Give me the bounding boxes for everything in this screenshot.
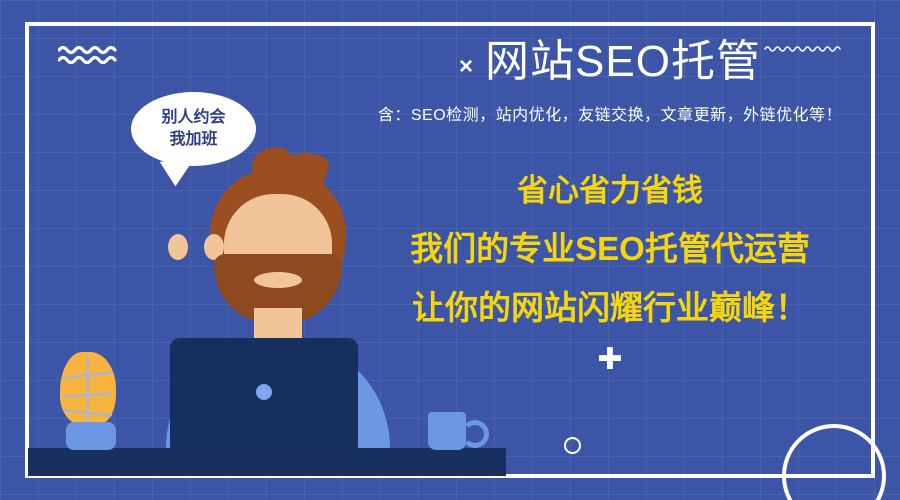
leaf-icon bbox=[60, 352, 116, 426]
slogan-line-2: 我们的专业SEO托管代运营 bbox=[330, 223, 890, 274]
mouth-icon bbox=[254, 272, 302, 288]
slogan-line-1: 省心省力省钱 bbox=[330, 167, 890, 215]
desk-edge bbox=[28, 468, 506, 476]
coffee-mug-icon bbox=[428, 412, 466, 450]
laptop-logo-icon bbox=[256, 384, 272, 400]
title-row: × 网站SEO托管 bbox=[330, 36, 890, 89]
speech-bubble: 别人约会 我加班 bbox=[131, 92, 256, 166]
speech-bubble-line-2: 我加班 bbox=[169, 129, 217, 151]
mug-handle bbox=[461, 420, 489, 448]
speech-bubble-tail bbox=[160, 158, 198, 188]
text-content-column: × 网站SEO托管 含：SEO检测，站内优化，友链交换，文章更新，外链优化等！ … bbox=[330, 36, 890, 375]
plant-pot-icon bbox=[66, 422, 116, 450]
speech-bubble-line-1: 别人约会 bbox=[161, 107, 225, 129]
plus-icon: ✚ bbox=[330, 345, 890, 375]
page-title: 网站SEO托管 bbox=[485, 36, 761, 89]
page-subtitle: 含：SEO检测，站内优化，友链交换，文章更新，外链优化等！ bbox=[330, 101, 890, 125]
slogan-group: 省心省力省钱 我们的专业SEO托管代运营 让你的网站闪耀行业巅峰！ ✚ bbox=[330, 167, 890, 375]
seo-hosting-banner: 别人约会 我加班 × 网站SEO托管 含：SEO检测，站内优化，友链交换，文章更… bbox=[0, 0, 900, 500]
slogan-line-3: 让你的网站闪耀行业巅峰！ bbox=[330, 282, 890, 333]
x-mark-icon: × bbox=[459, 45, 473, 79]
potted-leaf-plant-icon bbox=[60, 352, 116, 426]
ear-right-icon bbox=[168, 234, 188, 260]
